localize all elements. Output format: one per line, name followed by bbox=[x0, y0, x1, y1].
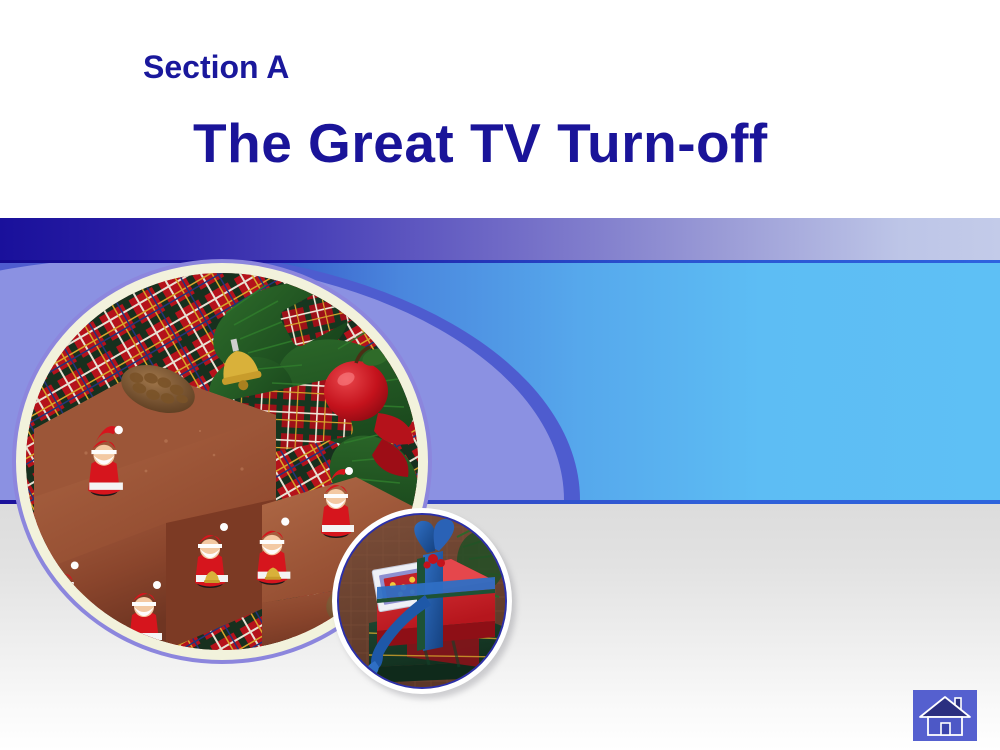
page-title: The Great TV Turn-off bbox=[193, 111, 768, 175]
christmas-gift-boxes-photo bbox=[339, 515, 505, 687]
section-label: Section A bbox=[143, 49, 289, 86]
banner-band-top bbox=[0, 218, 1000, 260]
presentation-slide: Section A The Great TV Turn-off bbox=[0, 0, 1000, 750]
home-button[interactable] bbox=[913, 690, 977, 741]
home-icon bbox=[913, 690, 977, 741]
small-photo-frame bbox=[332, 508, 512, 694]
title-area: Section A The Great TV Turn-off bbox=[0, 0, 1000, 218]
